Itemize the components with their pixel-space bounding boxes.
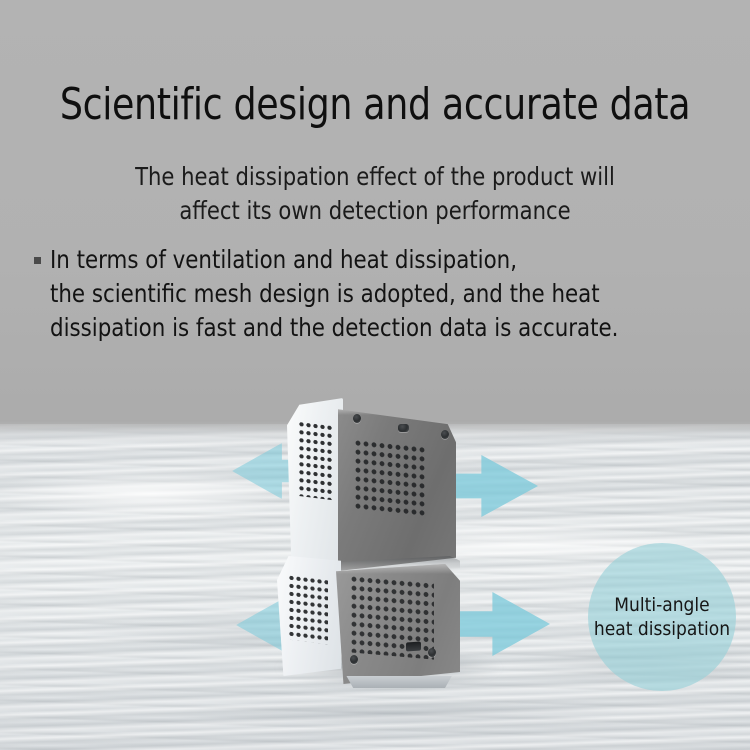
feature-bullet: In terms of ventilation and heat dissipa… bbox=[34, 243, 734, 345]
multi-angle-callout-text: Multi-angle heat dissipation bbox=[594, 593, 730, 641]
screw-icon-top-left bbox=[353, 414, 361, 423]
caption-line-1: Multi-angle bbox=[594, 593, 730, 617]
bullet-line-2: the scientific mesh design is adopted, a… bbox=[50, 277, 618, 311]
product-feature-slide: Scientific design and accurate data The … bbox=[0, 0, 750, 750]
screw-icon-bottom-right bbox=[428, 648, 436, 657]
subtitle-line-2: affect its own detection performance bbox=[23, 194, 728, 228]
side-mesh-upper-icon bbox=[298, 420, 332, 500]
bullet-square-icon bbox=[34, 257, 41, 264]
rear-mesh-upper-icon bbox=[354, 438, 426, 518]
page-subtitle: The heat dissipation effect of the produ… bbox=[23, 160, 728, 228]
rear-mesh-lower-icon bbox=[350, 574, 434, 659]
page-title: Scientific design and accurate data bbox=[30, 79, 720, 130]
sensor-slot-icon bbox=[398, 424, 409, 432]
feature-bullet-text: In terms of ventilation and heat dissipa… bbox=[50, 243, 618, 345]
side-mesh-lower-icon bbox=[288, 574, 328, 645]
usb-port-icon bbox=[406, 641, 421, 651]
device-base-foot bbox=[342, 676, 454, 688]
bullet-line-1: In terms of ventilation and heat dissipa… bbox=[50, 243, 618, 277]
bullet-line-3: dissipation is fast and the detection da… bbox=[50, 311, 618, 345]
multi-angle-callout: Multi-angle heat dissipation bbox=[588, 543, 736, 691]
product-device-image bbox=[250, 380, 540, 690]
subtitle-line-1: The heat dissipation effect of the produ… bbox=[23, 160, 728, 194]
caption-line-2: heat dissipation bbox=[594, 617, 730, 641]
screw-icon-bottom-left bbox=[350, 655, 358, 664]
screw-icon-top-right bbox=[441, 430, 449, 439]
